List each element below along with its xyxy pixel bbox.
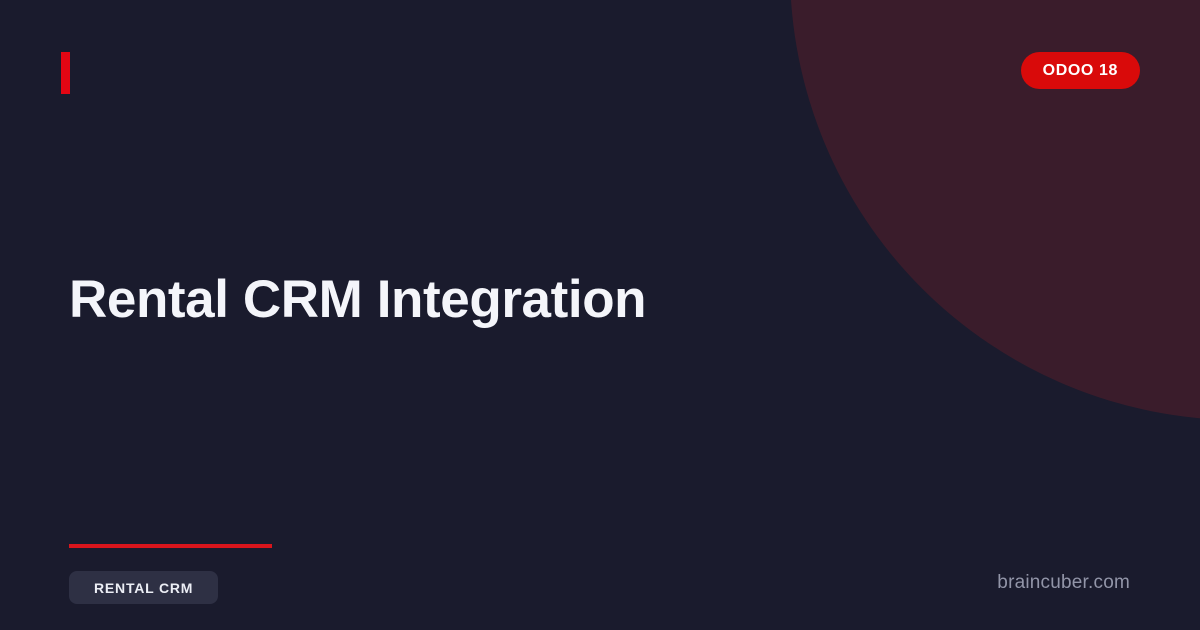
category-tag: RENTAL CRM: [69, 571, 218, 604]
footer-left-group: RENTAL CRM: [69, 544, 272, 604]
accent-bar-icon: [61, 52, 70, 94]
version-badge-label: ODOO 18: [1043, 62, 1118, 80]
promo-banner: ODOO 18 Rental CRM Integration RENTAL CR…: [0, 0, 1200, 630]
page-title: Rental CRM Integration: [69, 268, 646, 332]
version-badge: ODOO 18: [1021, 52, 1140, 89]
divider-rule: [69, 544, 272, 548]
site-url-label: braincuber.com: [997, 572, 1130, 594]
